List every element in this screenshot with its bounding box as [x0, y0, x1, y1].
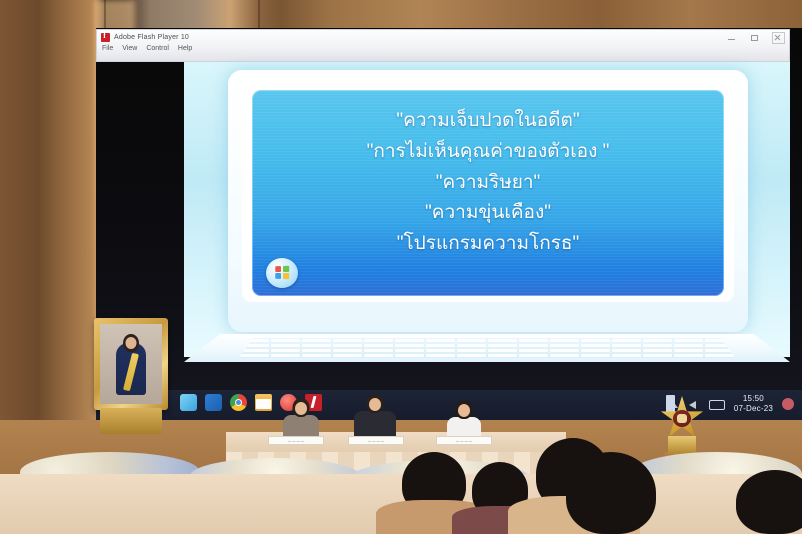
windows-flag-icon [275, 266, 289, 279]
menu-item-control[interactable]: Control [146, 45, 169, 52]
panelist-center [350, 394, 400, 438]
screenshot-root: Adobe Flash Player 10 File View Control … [0, 0, 802, 534]
maximize-icon[interactable] [749, 33, 760, 43]
panelist-left [278, 398, 324, 438]
minimize-icon[interactable] [726, 33, 737, 43]
menu-bar: File View Control Help [102, 45, 192, 52]
flash-player-window: Adobe Flash Player 10 File View Control … [96, 29, 790, 62]
taskbar-clock[interactable]: 15:50 07-Dec-23 [734, 394, 773, 414]
portrait-image [100, 324, 162, 404]
nameplate-center: — — — — [348, 436, 404, 445]
window-title-bar: Adobe Flash Player 10 [101, 33, 189, 42]
close-icon[interactable] [772, 32, 785, 44]
royal-emblem [660, 396, 704, 440]
clock-date: 07-Dec-23 [734, 404, 773, 413]
window-title: Adobe Flash Player 10 [114, 34, 189, 41]
presentation-slide: "ความเจ็บปวดในอดีต" "การไม่เห็นคุณค่าของ… [184, 62, 790, 357]
royal-portrait [94, 318, 168, 410]
laptop-keyboard-base [184, 334, 790, 362]
panelist-face [458, 404, 470, 417]
nameplate-left: — — — — [268, 436, 324, 445]
flash-icon [101, 33, 110, 42]
file-explorer-icon[interactable] [255, 394, 272, 411]
windows-orb-icon[interactable] [266, 258, 298, 288]
chrome-icon[interactable] [230, 394, 247, 411]
menu-item-file[interactable]: File [102, 45, 113, 52]
slide-text-block: "ความเจ็บปวดในอดีต" "การไม่เห็นคุณค่าของ… [252, 106, 724, 260]
laptop-keyboard [239, 338, 736, 358]
laptop-bezel: "ความเจ็บปวดในอดีต" "การไม่เห็นคุณค่าของ… [242, 82, 734, 302]
laptop-illustration: "ความเจ็บปวดในอดีต" "การไม่เห็นคุณค่าของ… [228, 70, 748, 332]
slide-line-4: "ความขุ่นเคือง" [252, 198, 724, 229]
clock-time: 15:50 [743, 394, 764, 403]
portrait-face [126, 337, 137, 349]
window-controls [726, 32, 785, 44]
menu-item-view[interactable]: View [122, 45, 137, 52]
panelist-face [369, 398, 381, 411]
portrait-pedestal [100, 408, 162, 434]
slide-text-panel: "ความเจ็บปวดในอดีต" "การไม่เห็นคุณค่าของ… [252, 90, 724, 296]
battery-icon[interactable] [709, 400, 725, 410]
start-icon[interactable] [180, 394, 197, 411]
audience-head [736, 470, 802, 534]
notification-dot[interactable] [782, 398, 794, 410]
audience-head [566, 452, 656, 534]
slide-line-5: "โปรแกรมความโกรธ" [252, 229, 724, 260]
slide-line-1: "ความเจ็บปวดในอดีต" [252, 106, 724, 137]
nameplate-right: — — — — [436, 436, 492, 445]
app-blue-icon[interactable] [205, 394, 222, 411]
slide-line-3: "ความริษยา" [252, 168, 724, 199]
menu-item-help[interactable]: Help [178, 45, 192, 52]
emblem-center-icon [673, 410, 691, 427]
panelist-face [295, 402, 307, 415]
panelist-right [442, 400, 486, 438]
slide-line-2: "การไม่เห็นคุณค่าของตัวเอง " [252, 137, 724, 168]
